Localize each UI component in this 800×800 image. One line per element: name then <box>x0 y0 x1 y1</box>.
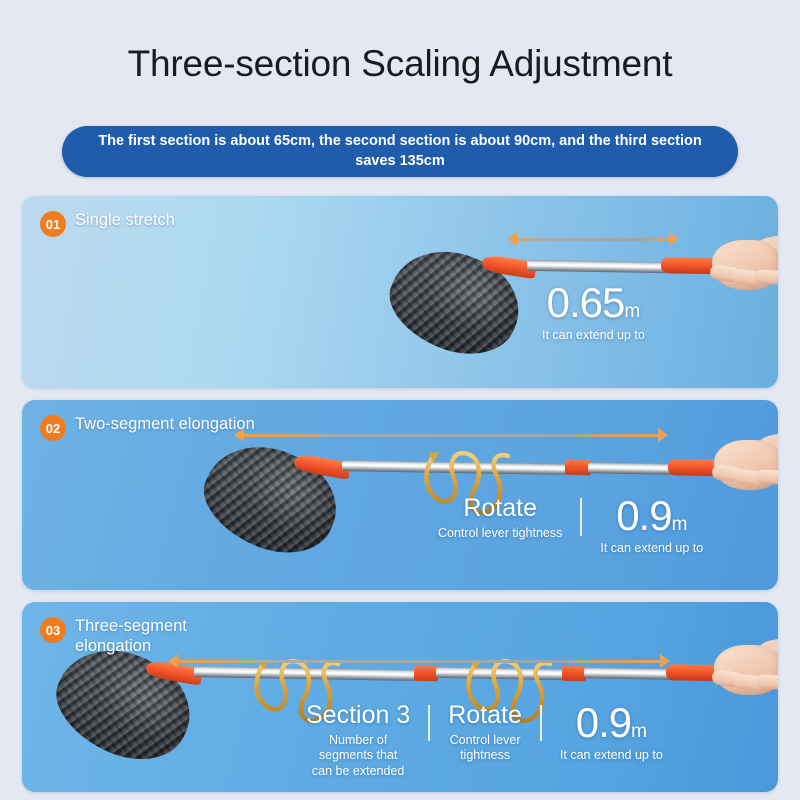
stat-caption: It can extend up to <box>600 541 703 556</box>
arrow-shaft <box>175 660 663 663</box>
stat-extension-length: 0.65m It can extend up to <box>530 282 657 343</box>
stat-value: Rotate <box>438 495 562 522</box>
extension-measure-arrow-01 <box>507 232 679 246</box>
extension-measure-arrow-02 <box>234 428 668 442</box>
step-badge-03: 03 <box>40 617 66 643</box>
arrow-head-right-icon <box>660 654 670 668</box>
stat-number: 0.9 <box>616 492 671 539</box>
mop-head-icon <box>377 233 533 371</box>
stat-divider <box>580 498 582 536</box>
stat-value: Section 3 <box>306 702 410 729</box>
mop-pole-section-3 <box>584 667 672 680</box>
stat-rotate: Rotate Control lever tightness <box>426 495 574 541</box>
step-label-02: 02 Two-segment elongation <box>40 414 255 441</box>
panel-single-stretch: 01 Single stretch 0.65m It ca <box>22 196 778 388</box>
step-badge-02: 02 <box>40 415 66 441</box>
hand-gripping-handle <box>700 430 778 500</box>
stat-value: 0.9m <box>560 702 663 744</box>
stats-row-01: 0.65m It can extend up to <box>530 282 657 343</box>
mop-pole-collar <box>414 666 438 681</box>
finger <box>756 469 778 484</box>
stat-divider <box>428 705 430 741</box>
subtitle-banner: The first section is about 65cm, the sec… <box>62 126 738 177</box>
stat-unit: m <box>631 721 647 742</box>
step-label-text-02: Two-segment elongation <box>75 414 255 434</box>
arrow-shaft <box>241 434 661 437</box>
stat-rotate: Rotate Control lever tightness <box>436 702 534 764</box>
stats-row-03: Section 3 Number of segments that can be… <box>294 702 675 779</box>
stat-number: 0.9 <box>576 699 631 746</box>
stat-unit: m <box>624 301 640 322</box>
stat-section-count: Section 3 Number of segments that can be… <box>294 702 422 779</box>
stat-caption: It can extend up to <box>542 328 645 343</box>
finger <box>756 674 778 689</box>
page-title: Three-section Scaling Adjustment <box>0 0 800 85</box>
stat-caption: Control lever tightness <box>448 733 522 764</box>
step-label-01: 01 Single stretch <box>40 210 175 237</box>
hand-gripping-handle <box>698 230 778 300</box>
mop-head-strands <box>377 233 533 371</box>
finger <box>754 269 778 284</box>
stat-caption: Number of segments that can be extended <box>306 733 410 779</box>
step-label-text-03: Three-segment elongation <box>75 616 187 656</box>
hand-gripping-handle <box>700 635 778 705</box>
mop-pole-section-2 <box>588 462 674 474</box>
stat-extension-length: 0.9m It can extend up to <box>588 495 715 556</box>
stat-value: Rotate <box>448 702 522 729</box>
stats-row-02: Rotate Control lever tightness 0.9m It c… <box>426 495 715 556</box>
arrow-shaft <box>514 238 672 241</box>
arrow-head-right-icon <box>658 428 668 442</box>
stat-value: 0.9m <box>600 495 703 537</box>
mop-pole <box>527 260 667 273</box>
stat-extension-length: 0.9m It can extend up to <box>548 702 675 763</box>
extension-measure-arrow-03 <box>168 654 670 668</box>
mop-head-strands <box>190 427 352 571</box>
step-badge-01: 01 <box>40 211 66 237</box>
stat-divider <box>540 705 542 741</box>
stat-caption: It can extend up to <box>560 748 663 763</box>
step-label-text-01: Single stretch <box>75 210 175 230</box>
arrow-head-right-icon <box>669 232 679 246</box>
panel-three-segment-elongation: 03 Three-segment elongation <box>22 602 778 792</box>
stat-caption: Control lever tightness <box>438 526 562 541</box>
mop-head-icon <box>190 427 352 571</box>
panel-two-segment-elongation: 02 Two-segment elongation <box>22 400 778 590</box>
stat-unit: m <box>672 514 688 535</box>
stat-value: 0.65m <box>542 282 645 324</box>
subtitle-banner-text: The first section is about 65cm, the sec… <box>98 132 702 171</box>
step-label-03: 03 Three-segment elongation <box>40 616 187 656</box>
stat-number: 0.65 <box>547 279 625 326</box>
